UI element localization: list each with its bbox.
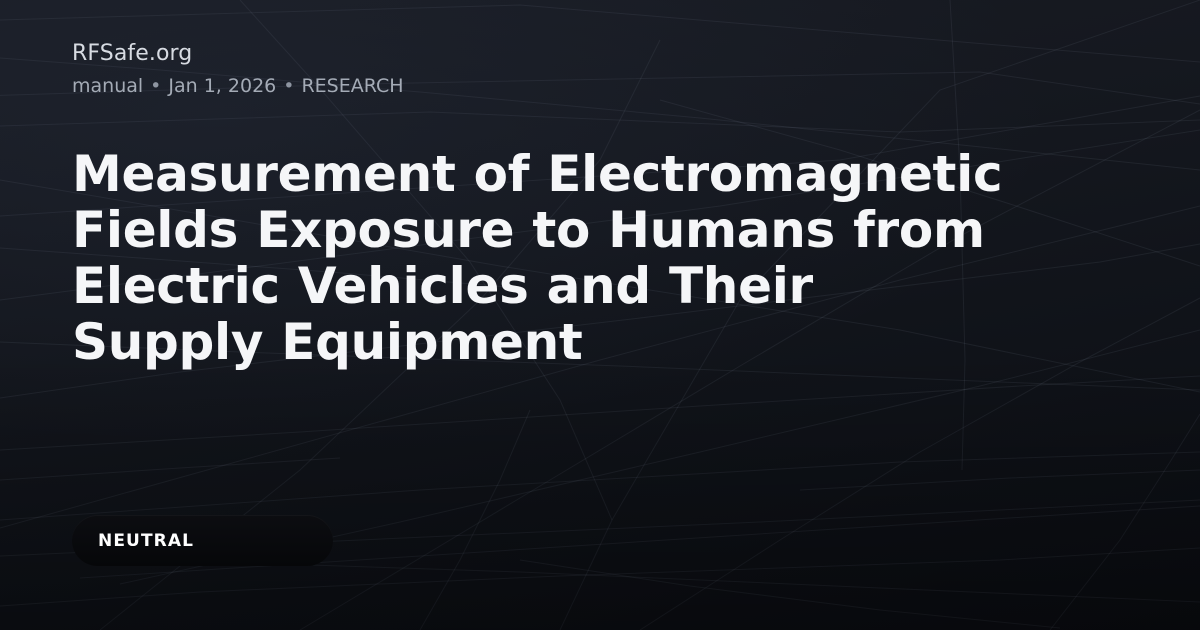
site-name: RFSafe.org xyxy=(72,40,404,68)
article-meta: manual•Jan 1, 2026•RESEARCH xyxy=(72,74,404,98)
meta-type: manual xyxy=(72,75,143,97)
page-title: Measurement of Electromagnetic Fields Ex… xyxy=(72,146,1012,370)
site-header: RFSafe.org manual•Jan 1, 2026•RESEARCH xyxy=(72,40,404,98)
meta-date: Jan 1, 2026 xyxy=(168,75,276,97)
meta-separator-2: • xyxy=(276,75,301,97)
card-content: RFSafe.org manual•Jan 1, 2026•RESEARCH M… xyxy=(72,0,1132,630)
meta-category: RESEARCH xyxy=(301,75,403,97)
meta-separator-1: • xyxy=(143,75,168,97)
status-badge: NEUTRAL xyxy=(72,515,333,566)
og-preview-card: RFSafe.org manual•Jan 1, 2026•RESEARCH M… xyxy=(0,0,1200,630)
status-badge-label: NEUTRAL xyxy=(98,531,194,551)
